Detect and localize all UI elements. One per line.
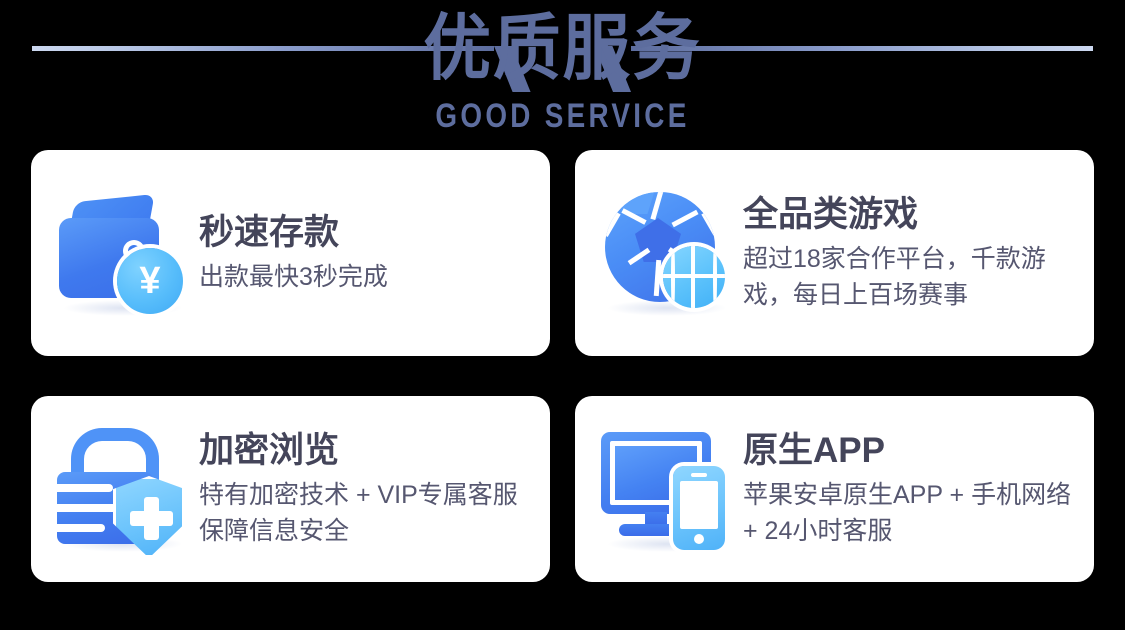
feature-card-encryption[interactable]: 加密浏览 特有加密技术 + VIP专属客服保障信息安全	[31, 396, 550, 582]
page-header: 优质服务 GOOD SERVICE	[0, 0, 1125, 142]
feature-card-text: 原生APP 苹果安卓原生APP + 手机网络 + 24小时客服	[743, 429, 1094, 549]
feature-card-text: 加密浏览 特有加密技术 + VIP专属客服保障信息安全	[199, 429, 550, 549]
basketball-icon	[663, 246, 725, 308]
page-subtitle: GOOD SERVICE	[101, 96, 1024, 136]
card-subtitle: 超过18家合作平台，千款游戏，每日上百场赛事	[743, 241, 1080, 313]
mobile-phone-icon	[673, 466, 725, 550]
page-title: 优质服务	[34, 6, 1092, 92]
feature-card-deposit[interactable]: ¥ 秒速存款 出款最快3秒完成	[31, 150, 550, 356]
phone-home-button-icon	[694, 534, 704, 544]
feature-card-native-app[interactable]: 原生APP 苹果安卓原生APP + 手机网络 + 24小时客服	[575, 396, 1094, 582]
wallet-yen-icon: ¥	[53, 188, 199, 318]
monitor-phone-icon	[597, 424, 743, 554]
phone-screen-icon	[680, 481, 718, 529]
card-title: 原生APP	[743, 429, 1080, 473]
card-subtitle: 出款最快3秒完成	[199, 259, 536, 295]
feature-card-text: 秒速存款 出款最快3秒完成	[199, 211, 550, 295]
lock-shield-icon	[53, 424, 199, 554]
feature-card-grid: ¥ 秒速存款 出款最快3秒完成	[31, 150, 1094, 582]
card-title: 秒速存款	[199, 211, 536, 255]
feature-card-games[interactable]: 全品类游戏 超过18家合作平台，千款游戏，每日上百场赛事	[575, 150, 1094, 356]
yen-coin-icon: ¥	[117, 248, 183, 314]
phone-speaker-icon	[691, 473, 707, 477]
soccer-basketball-icon	[597, 188, 743, 318]
card-subtitle: 苹果安卓原生APP + 手机网络 + 24小时客服	[743, 477, 1080, 549]
card-title: 加密浏览	[199, 429, 536, 473]
card-subtitle: 特有加密技术 + VIP专属客服保障信息安全	[199, 477, 536, 549]
feature-card-text: 全品类游戏 超过18家合作平台，千款游戏，每日上百场赛事	[743, 193, 1094, 313]
card-title: 全品类游戏	[743, 193, 1080, 237]
